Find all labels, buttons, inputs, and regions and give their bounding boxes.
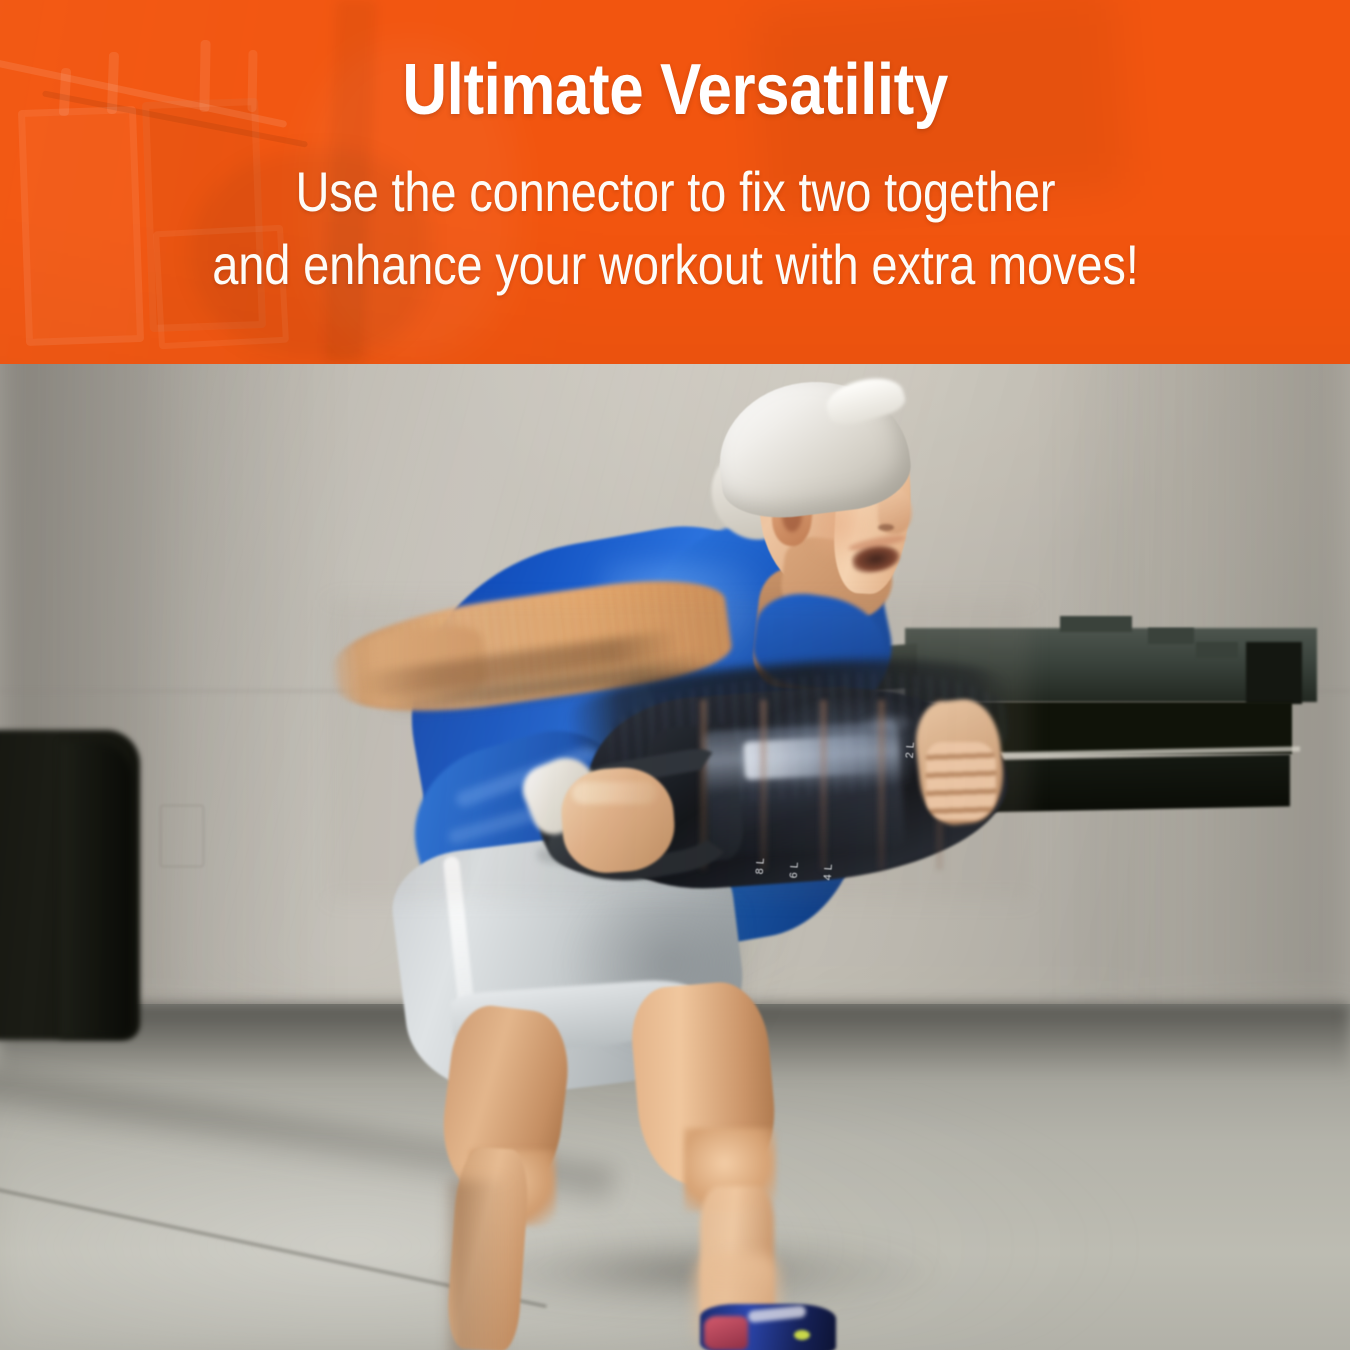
aqua-bag-ridge bbox=[820, 700, 827, 870]
aqua-bag-ridge bbox=[878, 700, 885, 870]
aqua-bag-volume-mark: 8 L bbox=[754, 857, 767, 875]
banner-text-block: Ultimate Versatility Use the connector t… bbox=[0, 0, 1350, 364]
subtitle-line-2: and enhance your workout with extra move… bbox=[212, 229, 1138, 302]
aqua-bag-volume-mark: 2 L bbox=[904, 741, 917, 759]
aqua-bag-volume-mark: 6 L bbox=[788, 861, 801, 879]
nostril bbox=[878, 524, 894, 531]
headline-banner: Ultimate Versatility Use the connector t… bbox=[0, 0, 1350, 364]
fist-knuckles bbox=[572, 782, 658, 804]
far-hand-fingers bbox=[926, 742, 996, 820]
shoe-logo-accent bbox=[794, 1330, 810, 1340]
page-title: Ultimate Versatility bbox=[402, 54, 947, 126]
promo-image: 2 L 4 L 6 L 8 L 8 L 6 L 4 L bbox=[0, 0, 1350, 1350]
banner-subtitle: Use the connector to fix two together an… bbox=[212, 156, 1138, 302]
aqua-bag-volume-mark: 4 L bbox=[822, 863, 835, 881]
shoe-heel-accent bbox=[704, 1316, 748, 1350]
aqua-bag-reflection bbox=[860, 712, 914, 734]
calf-shadow bbox=[450, 1180, 510, 1350]
subtitle-line-1: Use the connector to fix two together bbox=[295, 160, 1055, 223]
aqua-bag-ridge bbox=[760, 700, 767, 870]
